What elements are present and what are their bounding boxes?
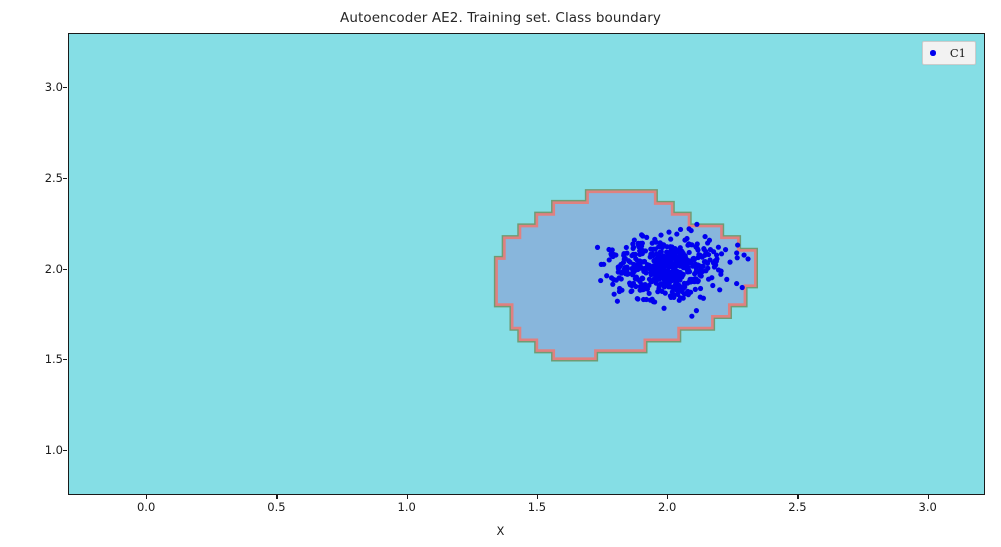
chart-title: Autoencoder AE2. Training set. Class bou… xyxy=(0,10,1001,26)
x-axis-label: X xyxy=(0,524,1001,538)
x-tick-mark xyxy=(667,495,668,499)
y-axis-label: Y xyxy=(0,267,1,274)
x-tick-mark xyxy=(797,495,798,499)
y-tick-mark xyxy=(63,269,67,270)
x-tick-label: 1.5 xyxy=(528,500,546,514)
y-tick-mark xyxy=(63,87,67,88)
y-tick-mark xyxy=(63,359,67,360)
plot-svg xyxy=(69,34,984,494)
x-tick-label: 3.0 xyxy=(919,500,937,514)
figure-canvas: Autoencoder AE2. Training set. Class bou… xyxy=(0,0,1001,547)
y-tick-label: 2.5 xyxy=(45,171,63,185)
x-tick-mark xyxy=(276,495,277,499)
x-tick-label: 2.5 xyxy=(788,500,806,514)
y-tick-mark xyxy=(63,450,67,451)
x-tick-label: 0.5 xyxy=(267,500,285,514)
y-tick-label: 3.0 xyxy=(45,80,63,94)
y-tick-label: 1.5 xyxy=(45,352,63,366)
plot-area[interactable]: C1 xyxy=(68,33,985,495)
x-tick-mark xyxy=(146,495,147,499)
legend[interactable]: C1 xyxy=(922,41,976,65)
y-tick-label: 1.0 xyxy=(45,443,63,457)
x-tick-label: 1.0 xyxy=(398,500,416,514)
y-tick-label: 2.0 xyxy=(45,262,63,276)
x-tick-mark xyxy=(537,495,538,499)
x-tick-mark xyxy=(928,495,929,499)
x-tick-label: 0.0 xyxy=(137,500,155,514)
legend-label-c1: C1 xyxy=(950,46,966,60)
legend-marker-c1 xyxy=(930,50,936,56)
x-tick-label: 2.0 xyxy=(658,500,676,514)
y-tick-mark xyxy=(63,178,67,179)
x-tick-mark xyxy=(407,495,408,499)
